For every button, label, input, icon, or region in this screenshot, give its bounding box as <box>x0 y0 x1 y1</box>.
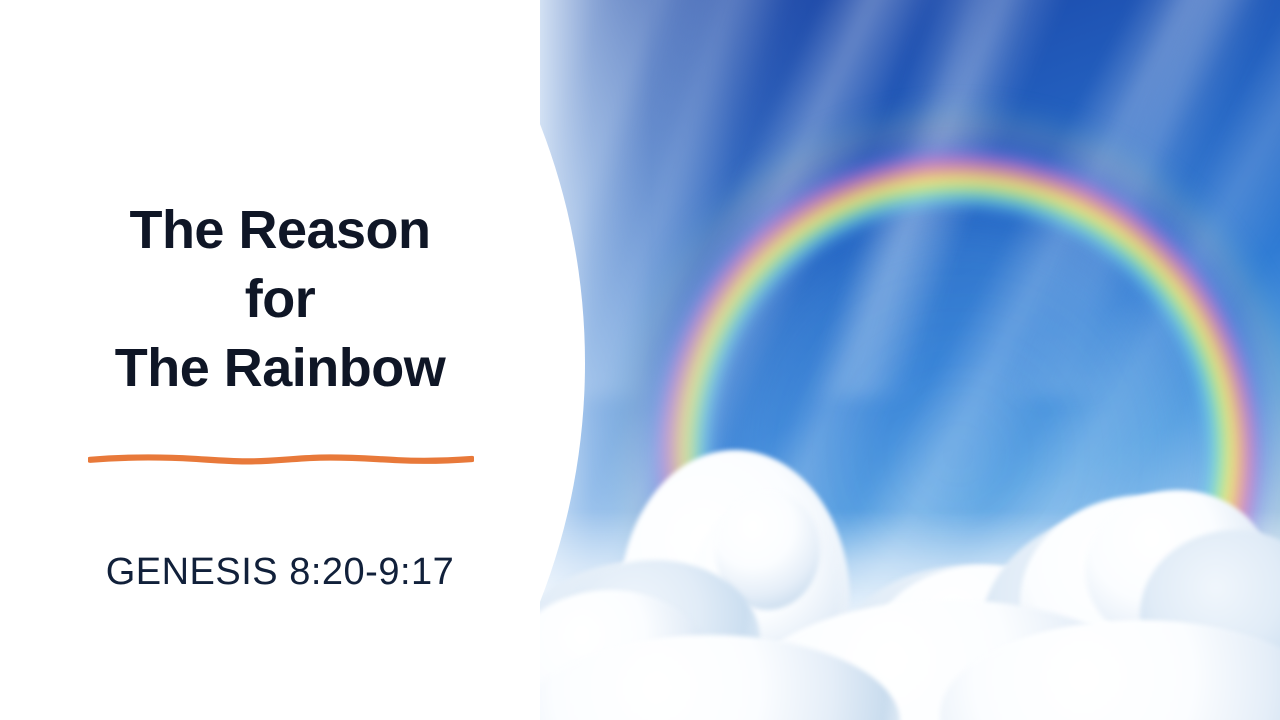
cloud-bank <box>540 390 1280 720</box>
cloud-puff <box>715 490 820 610</box>
cloud-puff <box>1140 530 1280 700</box>
page-title: The Reason for The Rainbow <box>60 196 500 403</box>
cloud-puff <box>540 560 800 720</box>
cirrus-streaks <box>540 0 1280 720</box>
cloud-puff <box>870 565 1100 720</box>
cloud-puff <box>980 510 1280 720</box>
slide-canvas: The Reason for The Rainbow GENESIS 8:20-… <box>0 0 1280 720</box>
title-line-3: The Rainbow <box>60 334 500 403</box>
cirrus-streaks-upper <box>540 0 1280 397</box>
rainbow-inner-glow <box>578 74 1280 720</box>
cloud-puff <box>620 450 850 720</box>
text-column: The Reason for The Rainbow GENESIS 8:20-… <box>0 0 540 720</box>
cloud-puff <box>550 560 760 720</box>
cloud-base-layer <box>540 510 1280 720</box>
cloud-puff <box>1020 495 1270 710</box>
sky-gradient <box>540 0 1280 720</box>
secondary-rainbow-arc <box>540 20 1280 720</box>
orange-divider <box>88 448 474 470</box>
rainbow-arc <box>578 74 1280 720</box>
subtitle-reference: GENESIS 8:20-9:17 <box>60 551 500 594</box>
divider-stroke-icon <box>88 448 474 470</box>
cloud-puff <box>690 500 840 690</box>
cloud-puff <box>740 600 1160 720</box>
rainbow-photo <box>540 0 1280 720</box>
horizon-haze <box>540 0 1280 720</box>
cloud-puff <box>1085 490 1270 650</box>
cloud-puff <box>540 590 710 720</box>
title-line-2: for <box>60 265 500 334</box>
title-line-1: The Reason <box>60 196 500 265</box>
cloud-puff <box>830 565 1110 720</box>
cloud-puff <box>940 620 1280 720</box>
cloud-puff <box>790 620 960 720</box>
cloud-puff <box>540 635 900 720</box>
